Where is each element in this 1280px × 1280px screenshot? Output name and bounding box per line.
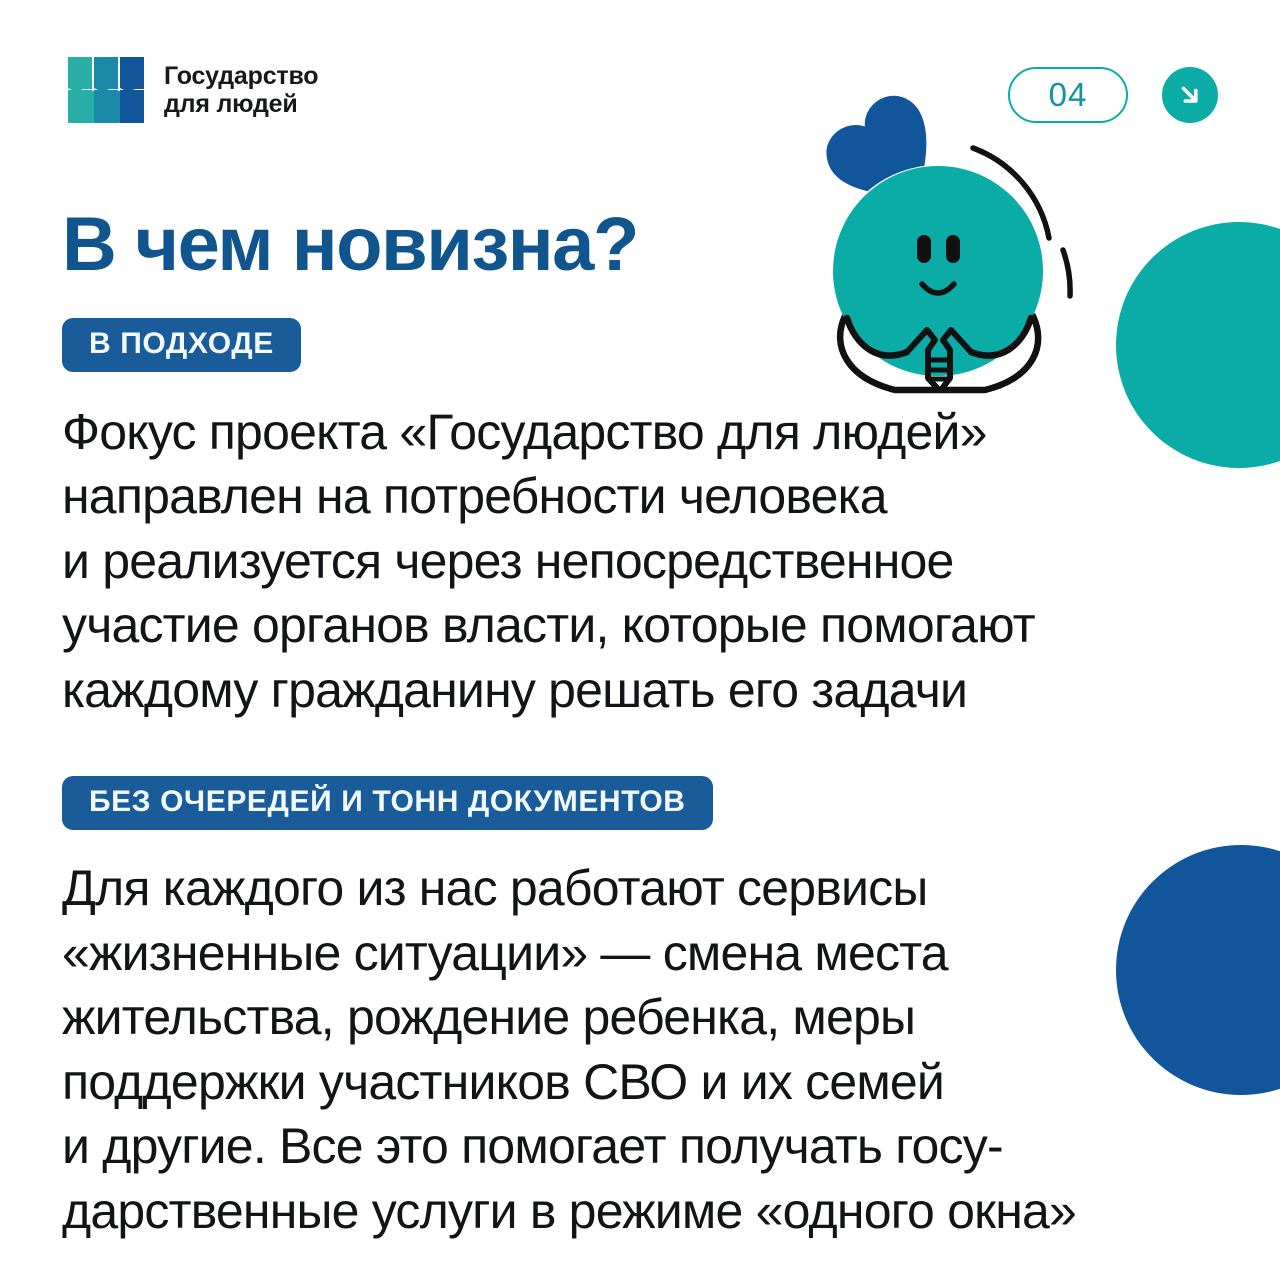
section-label-approach: В ПОДХОДЕ: [62, 318, 301, 372]
page-number-badge: 04: [1008, 67, 1128, 123]
section-label-no-queues: БЕЗ ОЧЕРЕДЕЙ И ТОНН ДОКУМЕНТОВ: [62, 776, 713, 830]
header: Государство для людей 04: [0, 0, 1280, 160]
section-text-approach: Фокус проекта «Государство для людей» на…: [62, 400, 1232, 723]
section-approach: В ПОДХОДЕ Фокус проекта «Государство для…: [62, 318, 1232, 723]
page-title: В чем новизна?: [62, 206, 1232, 284]
gdl-logo-icon: [68, 57, 144, 123]
next-slide-button[interactable]: [1162, 67, 1218, 123]
page-number: 04: [1049, 76, 1088, 114]
section-no-queues: БЕЗ ОЧЕРЕДЕЙ И ТОНН ДОКУМЕНТОВ Для каждо…: [62, 776, 1232, 1243]
section-text-no-queues: Для каждого из нас работают сервисы «жиз…: [62, 856, 1232, 1243]
poster-canvas: Государство для людей 04: [0, 0, 1280, 1280]
main-content: В чем новизна? В ПОДХОДЕ Фокус проекта «…: [62, 206, 1232, 1243]
brand-name: Государство для людей: [164, 62, 318, 119]
arrow-down-right-icon: [1175, 80, 1205, 110]
brand-lockup: Государство для людей: [68, 57, 318, 123]
